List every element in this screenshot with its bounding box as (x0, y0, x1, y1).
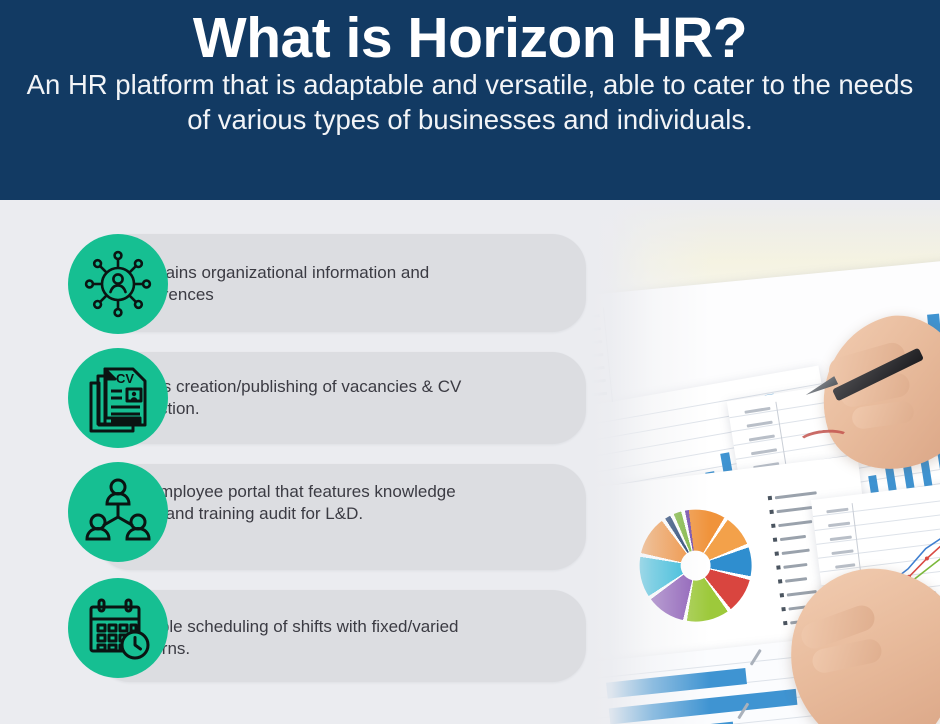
calendar-clock-icon (68, 578, 168, 678)
page-subtitle: An HR platform that is adaptable and ver… (0, 67, 940, 137)
pie-chart (633, 503, 758, 628)
svg-text:CV: CV (116, 371, 134, 386)
people-org-chart-icon (68, 462, 168, 562)
feature-list: Maintains organizational information and… (0, 200, 600, 724)
cv-document-icon: CV (68, 348, 168, 448)
header-banner: What is Horizon HR? An HR platform that … (0, 0, 940, 200)
feature-text-1: Maintains organizational information and… (124, 262, 474, 307)
page-title: What is Horizon HR? (193, 10, 747, 67)
network-person-icon (68, 234, 168, 334)
business-charts-photo (590, 200, 940, 724)
feature-text-2: Eases creation/publishing of vacancies &… (124, 376, 474, 421)
infographic-poster: What is Horizon HR? An HR platform that … (0, 0, 940, 724)
feature-text-3: An employee portal that features knowled… (124, 481, 474, 526)
feature-text-4: Flexible scheduling of shifts with fixed… (124, 616, 474, 661)
